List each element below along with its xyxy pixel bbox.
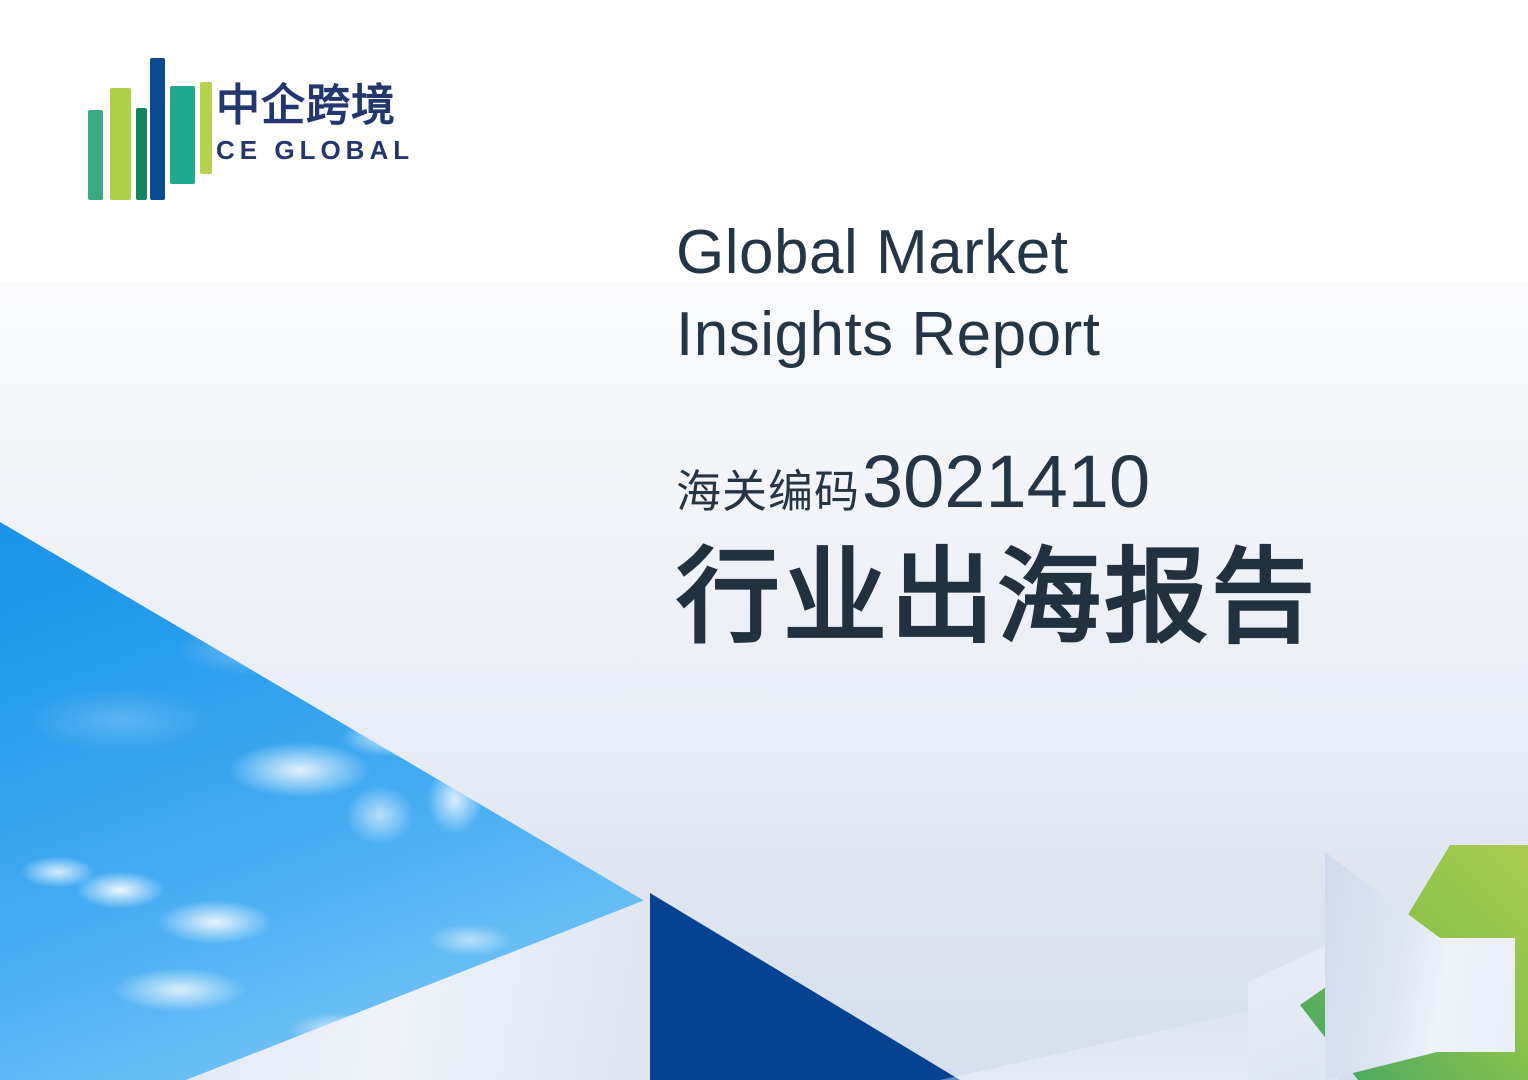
brand-logo[interactable]: 中企跨境 CE GLOBAL <box>88 58 428 198</box>
bar-1 <box>88 110 103 200</box>
logo-bars-icon <box>88 58 200 200</box>
bar-4 <box>150 58 165 200</box>
bar-3 <box>136 108 147 200</box>
bar-5 <box>170 86 195 184</box>
hs-code-label: 海关编码 <box>676 455 860 520</box>
logo-wordmark: 中企跨境 CE GLOBAL <box>216 84 414 163</box>
report-title-en: Global Market Insights Report <box>676 212 1496 377</box>
hs-code-value: 3021410 <box>862 439 1150 524</box>
report-headline-cn: 行业出海报告 <box>676 540 1496 656</box>
hs-code-line: 海关编码 3021410 <box>676 439 1496 524</box>
logo-name-en: CE GLOBAL <box>216 137 414 163</box>
report-cover-slide: 中企跨境 CE GLOBAL Global Market Insights Re… <box>0 0 1528 1080</box>
cover-text-block: Global Market Insights Report 海关编码 30214… <box>676 212 1496 656</box>
bar-6 <box>200 82 212 174</box>
logo-name-cn: 中企跨境 <box>216 84 414 128</box>
bar-2 <box>110 88 131 200</box>
